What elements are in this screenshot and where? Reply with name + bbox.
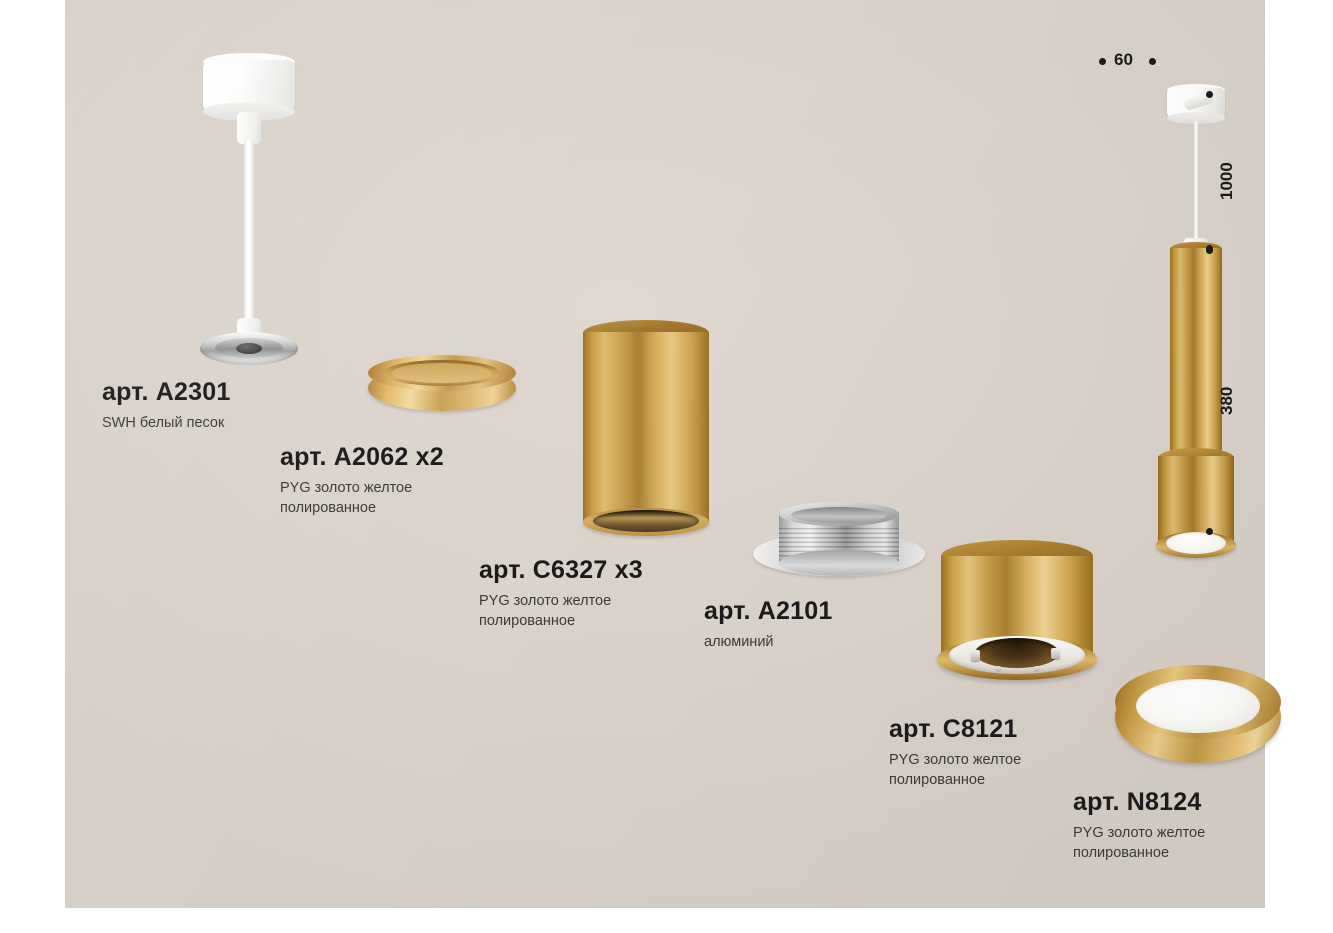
dim-label-1000: 1000 xyxy=(1217,162,1237,200)
product-image-a2062 xyxy=(368,355,520,423)
label-code-c6327: арт. C6327 x3 xyxy=(479,557,643,585)
beige-panel: арт. A2301 SWH белый песок арт. A2062 x2… xyxy=(65,0,1265,908)
product-image-a2101 xyxy=(753,506,929,588)
drum-cavity xyxy=(975,638,1059,668)
product-image-c8121 xyxy=(933,538,1101,693)
drum-screw-left xyxy=(971,650,980,661)
product-image-n8124 xyxy=(1115,665,1285,775)
dim-dot-60-right xyxy=(1149,58,1156,65)
product-image-a2301 xyxy=(195,60,315,360)
label-finish-c6327: PYG золото желтое полированное xyxy=(479,591,643,632)
label-finish-a2301: SWH белый песок xyxy=(102,413,230,434)
assembly-lens xyxy=(1166,532,1226,554)
dim-dot-1000-top xyxy=(1206,91,1213,98)
product-sheet-canvas: арт. A2301 SWH белый песок арт. A2062 x2… xyxy=(0,0,1333,933)
drum-contact-left xyxy=(995,666,1002,672)
white-diffuser xyxy=(1136,679,1260,733)
mount-chrome-disc-core xyxy=(236,343,262,354)
label-code-n8124: арт. N8124 xyxy=(1073,789,1205,817)
label-finish-c8121: PYG золото желтое полированное xyxy=(889,750,1021,791)
assembly-gold-tube xyxy=(1170,248,1222,458)
label-c6327: арт. C6327 x3 PYG золото желтое полирова… xyxy=(479,557,643,632)
drum-screw-right xyxy=(1051,648,1060,659)
label-code-c8121: арт. C8121 xyxy=(889,716,1021,744)
label-code-a2062: арт. A2062 x2 xyxy=(280,444,444,472)
dim-label-60: 60 xyxy=(1114,50,1133,70)
aluminium-aperture xyxy=(791,507,887,523)
label-n8124: арт. N8124 PYG золото желтое полированно… xyxy=(1073,789,1205,864)
product-image-assembled-pendant xyxy=(1140,88,1250,548)
label-code-a2101: арт. A2101 xyxy=(704,598,832,626)
label-a2062: арт. A2062 x2 PYG золото желтое полирова… xyxy=(280,444,444,519)
assembly-suspension-cord xyxy=(1194,121,1198,243)
product-image-c6327 xyxy=(577,318,717,538)
gold-ring-aperture-inner xyxy=(392,363,492,383)
cylinder-aperture xyxy=(593,510,699,532)
label-c8121: арт. C8121 PYG золото желтое полированно… xyxy=(889,716,1021,791)
label-finish-a2062: PYG золото желтое полированное xyxy=(280,478,444,519)
label-a2301: арт. A2301 SWH белый песок xyxy=(102,379,230,433)
drum-contact-right xyxy=(1033,666,1040,672)
mount-rod xyxy=(244,140,254,325)
dim-dot-380-bottom xyxy=(1206,528,1213,535)
label-finish-n8124: PYG золото желтое полированное xyxy=(1073,823,1205,864)
dim-dot-60-left xyxy=(1099,58,1106,65)
dim-label-380: 380 xyxy=(1217,387,1237,415)
aluminium-bottom-edge xyxy=(779,550,899,576)
dim-dot-380-top xyxy=(1206,247,1213,254)
label-a2101: арт. A2101 алюминий xyxy=(704,598,832,652)
cylinder-body xyxy=(583,332,709,522)
label-code-a2301: арт. A2301 xyxy=(102,379,230,407)
label-finish-a2101: алюминий xyxy=(704,632,832,653)
